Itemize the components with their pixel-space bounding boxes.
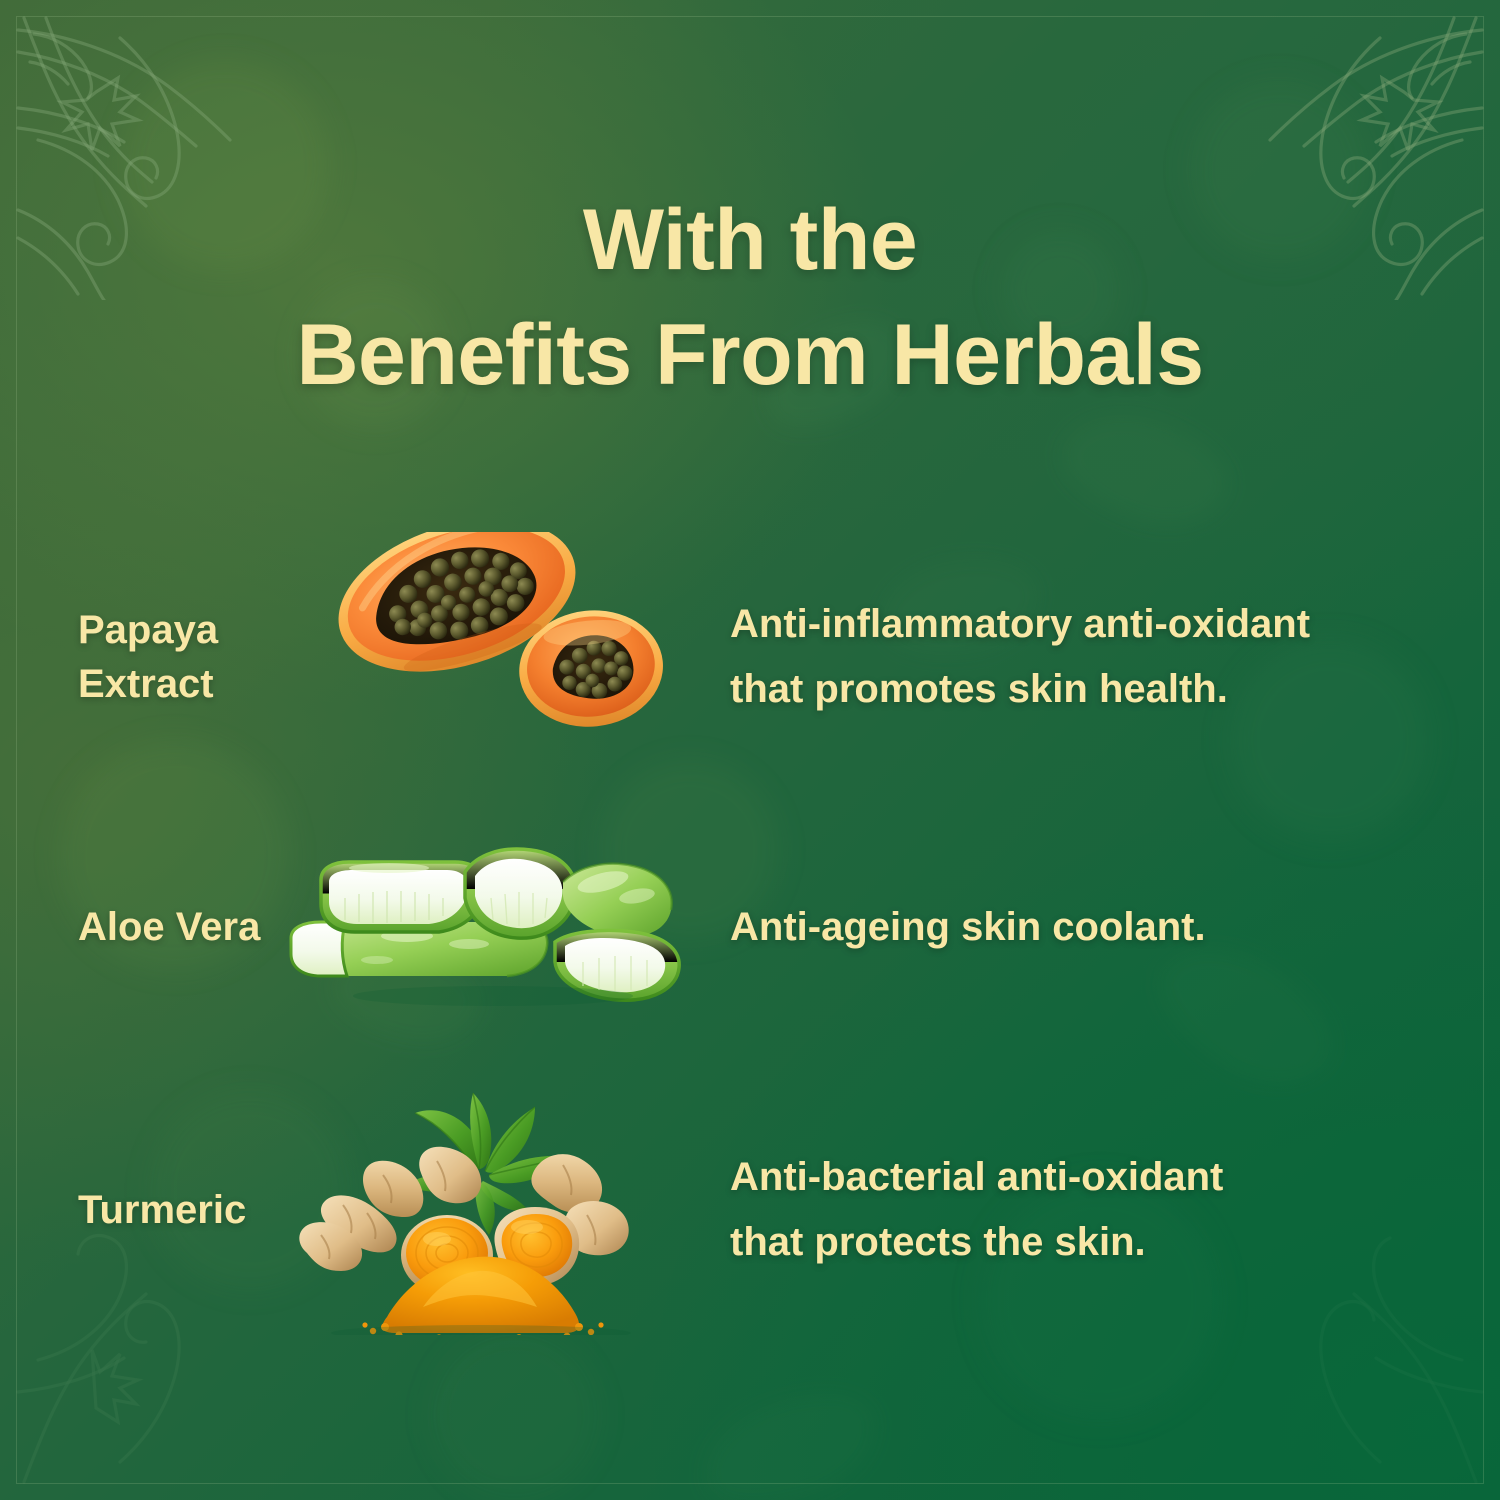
papaya-illustration-icon [303,532,703,782]
desc-line-2: that promotes skin health. [730,657,1460,722]
ingredient-art-aloe-vera [271,840,706,1015]
ingredient-name-line-1: Aloe Vera [78,905,260,949]
ingredient-name-papaya: Papaya Extract [0,603,285,712]
ingredient-art-papaya [285,532,720,782]
desc-line-2: that protects the skin. [730,1210,1460,1275]
page-title: With the Benefits From Herbals [0,183,1500,413]
ingredient-name-line-2: Extract [78,662,214,706]
desc-line-1: Anti-ageing skin coolant. [730,895,1460,960]
ingredient-name-line-1: Turmeric [78,1188,246,1232]
ingredient-name-line-1: Papaya [78,608,218,652]
desc-line-1: Anti-bacterial anti-oxidant [730,1145,1460,1210]
turmeric-illustration-icon [281,1085,681,1335]
aloe-vera-illustration-icon [279,840,699,1015]
ingredient-name-aloe-vera: Aloe Vera [0,900,285,954]
ingredient-desc-papaya: Anti-inflammatory anti-oxidant that prom… [720,592,1500,722]
desc-line-1: Anti-inflammatory anti-oxidant [730,592,1460,657]
bokeh-leaf-shape [1049,396,1242,544]
bokeh-blob [430,1330,600,1500]
ingredient-art-turmeric [263,1085,698,1335]
bokeh-leaf-shape [688,1372,891,1500]
ingredient-row-turmeric: Turmeric [0,1085,1500,1335]
ingredient-name-turmeric: Turmeric [0,1183,285,1237]
ingredient-row-aloe-vera: Aloe Vera [0,845,1500,1010]
ingredient-desc-aloe-vera: Anti-ageing skin coolant. [720,895,1500,960]
headline-line-2: Benefits From Herbals [40,298,1460,413]
ingredient-desc-turmeric: Anti-bacterial anti-oxidant that protect… [720,1145,1500,1275]
headline-line-1: With the [40,183,1460,298]
ingredient-row-papaya: Papaya Extract [0,532,1500,782]
herbal-benefits-poster: With the Benefits From Herbals Papaya Ex… [0,0,1500,1500]
